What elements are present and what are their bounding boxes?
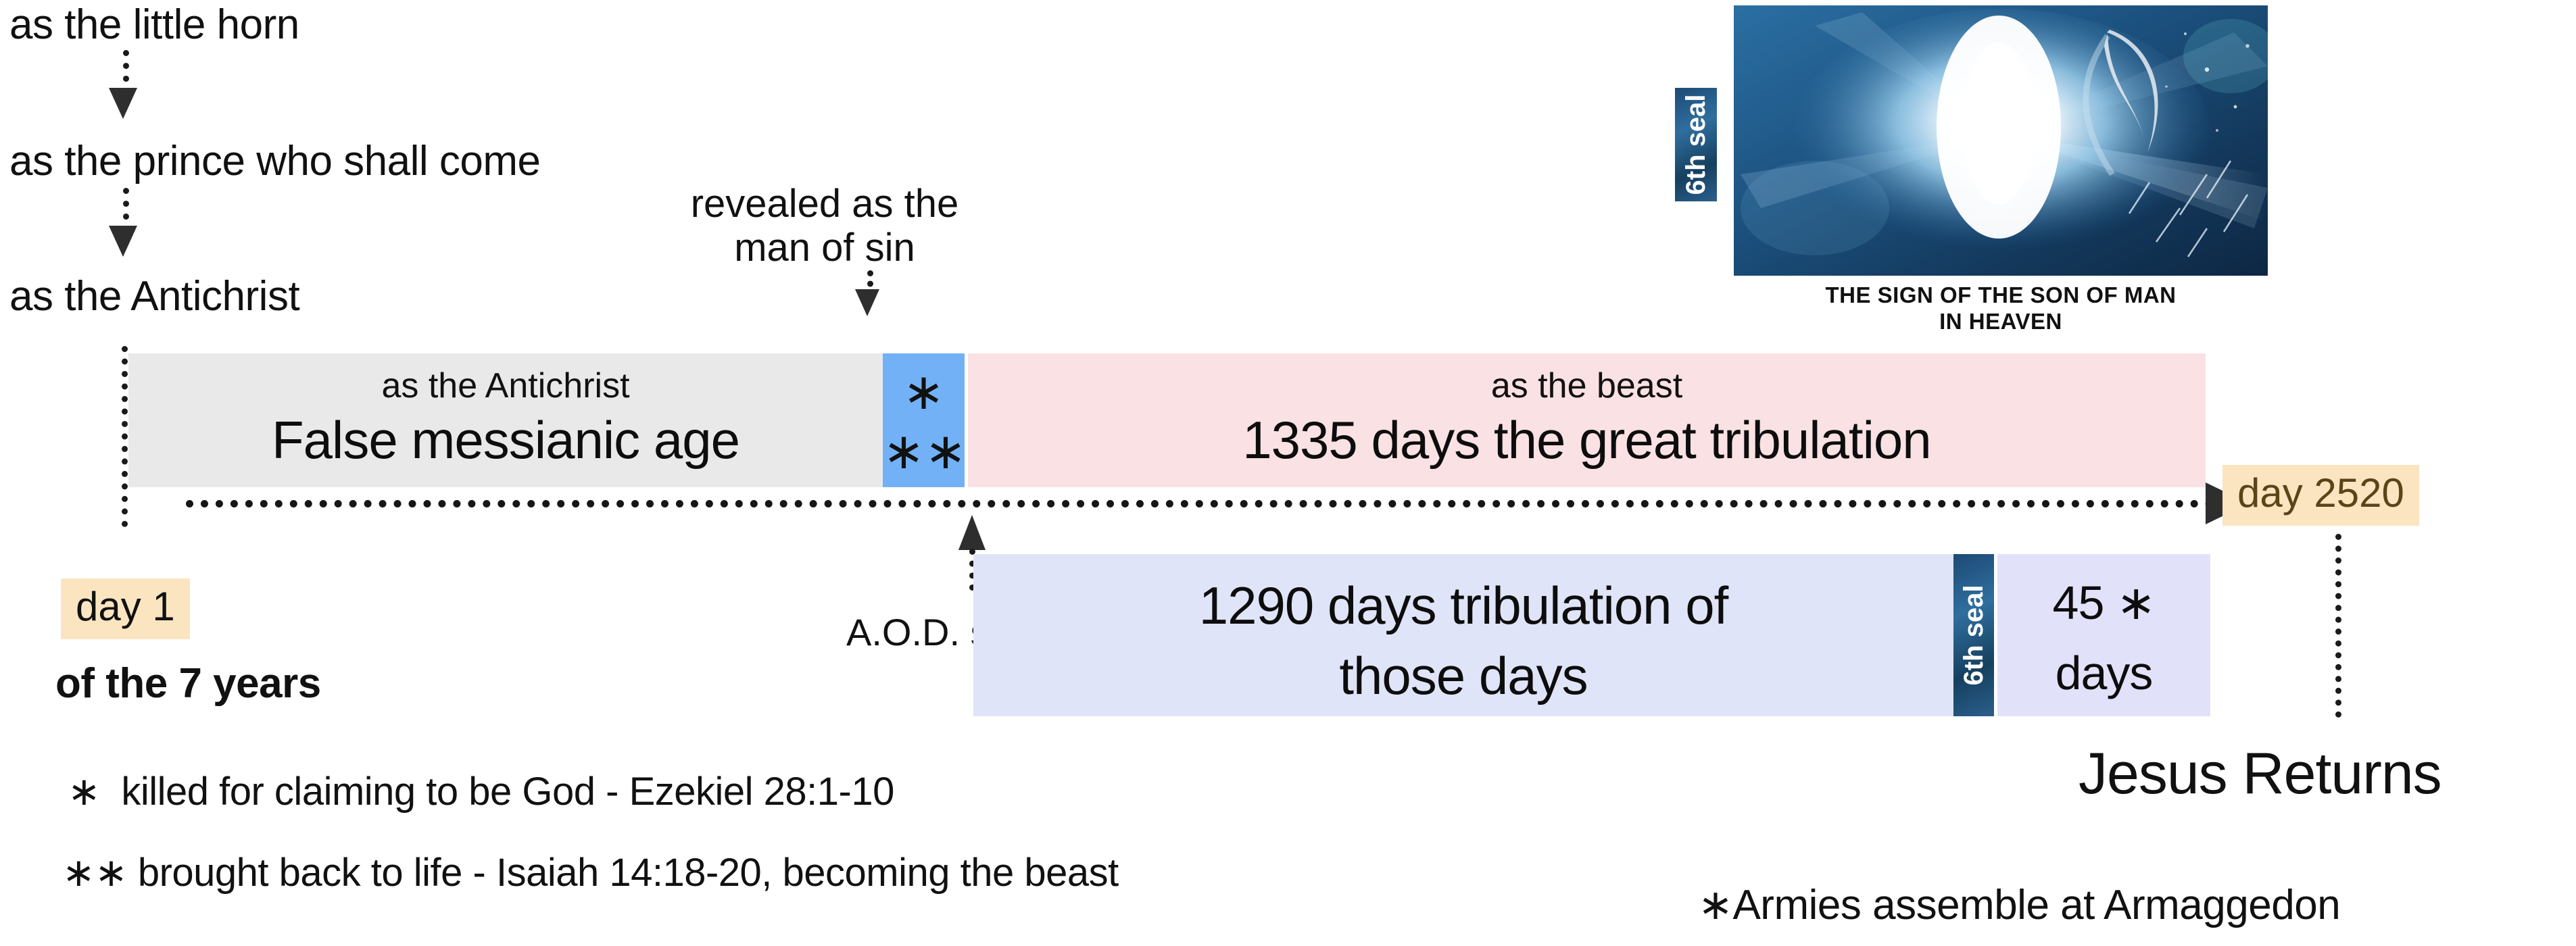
label-jesus-returns: Jesus Returns bbox=[2079, 745, 2441, 803]
block-false-messianic-age-title: False messianic age bbox=[128, 413, 883, 468]
lower-6th-seal-strip: 6th seal bbox=[1953, 554, 1994, 716]
revealed-line-1: revealed as the bbox=[629, 182, 1021, 226]
footnote-one-text: killed for claiming to be God - Ezekiel … bbox=[121, 770, 894, 814]
block-1290-days-line-2: those days bbox=[973, 649, 1953, 704]
revealed-arrow-icon bbox=[855, 289, 879, 316]
block-false-messianic-age[interactable]: as the Antichrist False messianic age bbox=[128, 353, 883, 487]
footnote-three-text: Armies assemble at Armaggedon bbox=[1732, 882, 2340, 928]
chain-label-prince: as the prince who shall come bbox=[9, 141, 541, 182]
sign-of-son-of-man-figure bbox=[1734, 5, 2268, 276]
start-marker-line-icon bbox=[122, 346, 128, 527]
block-45-days-line-2: days bbox=[1997, 649, 2210, 699]
chain-label-antichrist: as the Antichrist bbox=[9, 276, 299, 318]
revealed-line-2: man of sin bbox=[629, 226, 1021, 270]
footnote-two: ∗∗ brought back to life - Isaiah 14:18-2… bbox=[62, 853, 1119, 893]
block-death-and-resurrection[interactable]: ∗ ∗∗ bbox=[883, 353, 965, 487]
footnote-three-mark: ∗ bbox=[1698, 880, 1732, 929]
footnote-three: ∗Armies assemble at Armaggedon bbox=[1698, 884, 2340, 926]
block-false-messianic-age-caption: as the Antichrist bbox=[128, 368, 883, 403]
block-45-days[interactable]: 45 ∗ days bbox=[1997, 554, 2210, 716]
block-great-tribulation[interactable]: as the beast 1335 days the great tribula… bbox=[968, 353, 2206, 487]
death-mark-single-asterisk: ∗ bbox=[883, 367, 965, 417]
chain-arrow-1-icon bbox=[109, 88, 137, 119]
block-great-tribulation-caption: as the beast bbox=[968, 368, 2206, 403]
footnote-one: ∗ killed for claiming to be God - Ezekie… bbox=[68, 772, 894, 812]
end-marker-line-icon bbox=[2335, 534, 2341, 718]
picture-caption: THE SIGN OF THE SON OF MAN IN HEAVEN bbox=[1734, 282, 2268, 335]
footnote-two-text: brought back to life - Isaiah 14:18-20, … bbox=[138, 851, 1119, 895]
cosmic-light-burst-icon bbox=[1734, 5, 2268, 276]
block-1290-days-tribulation[interactable]: 1290 days tribulation of those days bbox=[973, 554, 1953, 716]
block-45-days-line-1: 45 ∗ bbox=[1997, 578, 2210, 628]
block-1290-days-line-1: 1290 days tribulation of bbox=[973, 578, 1953, 634]
picture-6th-seal-tab: 6th seal bbox=[1675, 88, 1717, 201]
aod-arrow-icon bbox=[958, 515, 986, 550]
footnote-two-mark: ∗∗ bbox=[62, 849, 127, 895]
block-great-tribulation-title: 1335 days the great tribulation bbox=[968, 413, 2206, 468]
label-of-the-7-years: of the 7 years bbox=[55, 659, 321, 707]
revealed-annotation: revealed as the man of sin bbox=[629, 182, 1021, 270]
badge-day-1[interactable]: day 1 bbox=[61, 578, 190, 639]
lower-6th-seal-label: 6th seal bbox=[1960, 585, 1987, 686]
badge-day-2520[interactable]: day 2520 bbox=[2222, 465, 2419, 526]
footnote-one-mark: ∗ bbox=[68, 768, 100, 814]
death-mark-double-asterisk: ∗∗ bbox=[883, 426, 965, 476]
chain-label-little-horn: as the little horn bbox=[9, 4, 299, 46]
picture-caption-line-2: IN HEAVEN bbox=[1734, 309, 2268, 335]
timeline-axis-dotted-line-icon bbox=[186, 500, 2214, 507]
picture-6th-seal-label: 6th seal bbox=[1682, 95, 1709, 195]
sign-of-son-of-man-image bbox=[1734, 5, 2268, 276]
picture-caption-line-1: THE SIGN OF THE SON OF MAN bbox=[1734, 282, 2268, 309]
chain-arrow-2-icon bbox=[109, 226, 137, 257]
